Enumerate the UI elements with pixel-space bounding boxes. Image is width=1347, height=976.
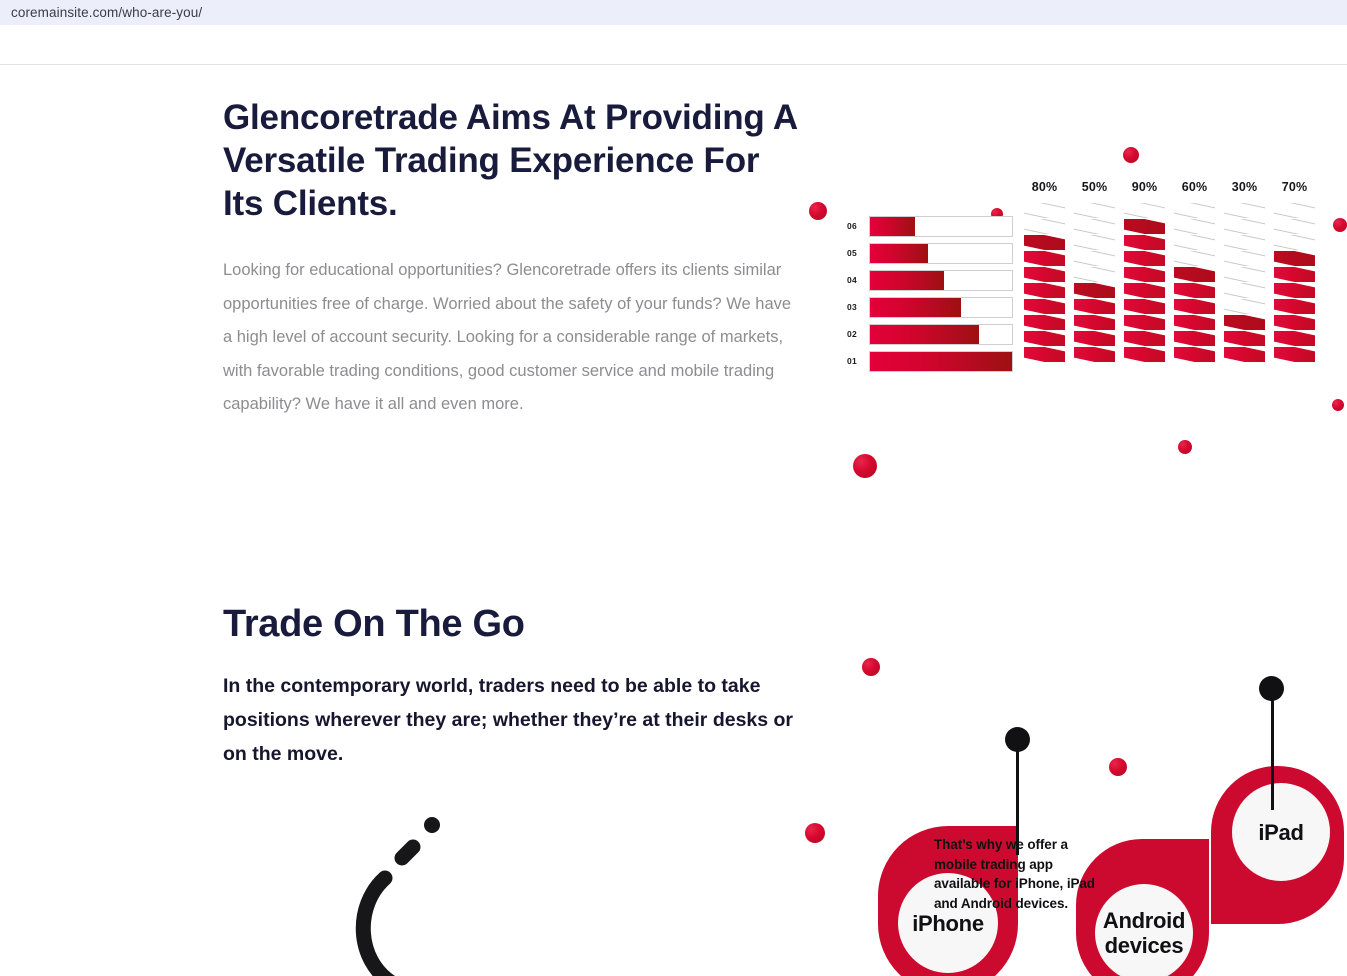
slice-empty: [1024, 203, 1065, 218]
slice-filled: [1174, 331, 1215, 346]
slice-filled: [1024, 315, 1065, 330]
slice-empty: [1024, 219, 1065, 234]
slice-shape: [1024, 299, 1065, 314]
slice-empty: [1274, 235, 1315, 250]
intro-paragraph: Looking for educational opportunities? G…: [223, 254, 798, 422]
bar-row: 04: [847, 269, 1013, 291]
url-text[interactable]: coremainsite.com/who-are-you/: [0, 5, 202, 20]
bar-track: [869, 243, 1013, 264]
slice-shape: [1224, 347, 1265, 362]
percentage-label: 30%: [1224, 180, 1265, 194]
slice-shape: [1074, 235, 1115, 250]
decorative-dot: [809, 202, 827, 220]
bar-fill: [870, 298, 961, 317]
slice-filled: [1274, 315, 1315, 330]
slice-filled: [1224, 331, 1265, 346]
bar-row: 02: [847, 323, 1013, 345]
slice-shape: [1124, 331, 1165, 346]
slice-shape: [1224, 251, 1265, 266]
slice-empty: [1224, 219, 1265, 234]
slice-filled: [1124, 219, 1165, 234]
bar-track: [869, 270, 1013, 291]
slice-shape: [1174, 219, 1215, 234]
section-title: Trade On The Go: [223, 601, 803, 647]
percentage-label: 60%: [1174, 180, 1215, 194]
slice-filled: [1024, 267, 1065, 282]
slice-shape: [1224, 299, 1265, 314]
slice-filled: [1174, 283, 1215, 298]
bar-track: [869, 297, 1013, 318]
slice-shape: [1124, 219, 1165, 234]
bar-fill: [870, 352, 1012, 371]
bar-row: 06: [847, 215, 1013, 237]
slice-shape: [1074, 267, 1115, 282]
slice-empty: [1074, 251, 1115, 266]
slice-filled: [1124, 235, 1165, 250]
slice-shape: [1274, 315, 1315, 330]
percentage-stack: [1024, 203, 1065, 362]
percentage-column: 30%: [1224, 180, 1265, 362]
slice-filled: [1074, 315, 1115, 330]
slice-shape: [1024, 315, 1065, 330]
slice-shape: [1024, 251, 1065, 266]
slice-filled: [1174, 315, 1215, 330]
page-content: Glencoretrade Aims At Providing A Versat…: [0, 66, 1347, 976]
pin-stem: [1271, 693, 1274, 810]
slice-filled: [1224, 315, 1265, 330]
decorative-dot: [1109, 758, 1127, 776]
slice-filled: [1124, 347, 1165, 362]
section-trade-on-the-go: Trade On The Go In the contemporary worl…: [223, 601, 803, 771]
decorative-dot: [1178, 440, 1192, 454]
slice-shape: [1074, 283, 1115, 298]
slice-empty: [1274, 219, 1315, 234]
slice-empty: [1174, 235, 1215, 250]
slice-shape: [1074, 315, 1115, 330]
slice-filled: [1124, 251, 1165, 266]
decorative-dot: [1332, 399, 1344, 411]
decorative-dot: [862, 658, 880, 676]
slice-shape: [1124, 299, 1165, 314]
percentage-column: 80%: [1024, 180, 1065, 362]
decorative-dot: [1123, 147, 1139, 163]
dashed-arc-icon: [340, 778, 460, 976]
slice-shape: [1124, 251, 1165, 266]
slice-shape: [1224, 219, 1265, 234]
percentage-label: 90%: [1124, 180, 1165, 194]
slice-filled: [1224, 347, 1265, 362]
decorative-dot: [1333, 218, 1347, 232]
bar-track: [869, 324, 1013, 345]
slice-filled: [1174, 347, 1215, 362]
slice-shape: [1024, 267, 1065, 282]
slice-shape: [1274, 235, 1315, 250]
device-label: iPad: [1258, 820, 1303, 845]
slice-shape: [1024, 235, 1065, 250]
pin-circle: iPad: [1232, 783, 1330, 881]
slice-filled: [1274, 347, 1315, 362]
callout-text: That’s why we offer a mobile trading app…: [934, 835, 1149, 913]
slice-filled: [1074, 347, 1115, 362]
section-paragraph: In the contemporary world, traders need …: [223, 669, 795, 771]
slice-shape: [1174, 283, 1215, 298]
page-title: Glencoretrade Aims At Providing A Versat…: [223, 96, 803, 225]
slice-shape: [1274, 331, 1315, 346]
slice-empty: [1274, 203, 1315, 218]
slice-shape: [1074, 219, 1115, 234]
slice-shape: [1074, 299, 1115, 314]
slice-shape: [1224, 235, 1265, 250]
slice-shape: [1124, 283, 1165, 298]
slice-shape: [1224, 203, 1265, 218]
browser-url-bar[interactable]: coremainsite.com/who-are-you/: [0, 0, 1347, 25]
bar-label: 01: [847, 356, 869, 366]
section-who-are-you: Glencoretrade Aims At Providing A Versat…: [223, 96, 803, 422]
slice-empty: [1224, 203, 1265, 218]
slice-filled: [1074, 299, 1115, 314]
slice-filled: [1124, 267, 1165, 282]
slice-empty: [1174, 251, 1215, 266]
slice-filled: [1274, 299, 1315, 314]
browser-toolbar: [0, 25, 1347, 65]
bar-fill: [870, 244, 928, 263]
bar-label: 02: [847, 329, 869, 339]
percentage-label: 70%: [1274, 180, 1315, 194]
slice-filled: [1024, 283, 1065, 298]
bar-row: 01: [847, 350, 1013, 372]
slice-shape: [1174, 347, 1215, 362]
slice-shape: [1224, 267, 1265, 282]
slice-filled: [1124, 331, 1165, 346]
percentage-label: 80%: [1024, 180, 1065, 194]
slice-shape: [1024, 331, 1065, 346]
slice-filled: [1024, 331, 1065, 346]
decorative-dot: [805, 823, 825, 843]
slice-filled: [1124, 283, 1165, 298]
slice-shape: [1274, 251, 1315, 266]
bar-label: 06: [847, 221, 869, 231]
slice-shape: [1274, 283, 1315, 298]
slice-shape: [1274, 203, 1315, 218]
slice-shape: [1274, 299, 1315, 314]
slice-filled: [1274, 331, 1315, 346]
slice-filled: [1274, 251, 1315, 266]
slice-empty: [1174, 219, 1215, 234]
slice-shape: [1074, 347, 1115, 362]
slice-empty: [1224, 235, 1265, 250]
slice-shape: [1124, 267, 1165, 282]
bar-track: [869, 216, 1013, 237]
slice-filled: [1024, 299, 1065, 314]
device-label: iPhone: [912, 911, 984, 936]
bar-label: 03: [847, 302, 869, 312]
statistics-infographic: 060504030201 80%50%90%60%30%70%: [800, 88, 1347, 458]
slice-shape: [1224, 283, 1265, 298]
percentage-column: 60%: [1174, 180, 1215, 362]
slice-shape: [1174, 331, 1215, 346]
slice-filled: [1274, 283, 1315, 298]
slice-empty: [1224, 283, 1265, 298]
percentage-column: 90%: [1124, 180, 1165, 362]
slice-shape: [1124, 203, 1165, 218]
slice-shape: [1224, 331, 1265, 346]
bar-row: 05: [847, 242, 1013, 264]
slice-filled: [1124, 315, 1165, 330]
slice-shape: [1174, 315, 1215, 330]
slice-empty: [1074, 219, 1115, 234]
percentage-column: 50%: [1074, 180, 1115, 362]
bar-label: 04: [847, 275, 869, 285]
mobile-devices-infographic: iPad Android devices iPhone That’s why w…: [800, 586, 1347, 976]
slice-shape: [1124, 315, 1165, 330]
slice-shape: [1074, 331, 1115, 346]
slice-shape: [1024, 219, 1065, 234]
slice-empty: [1124, 203, 1165, 218]
slice-filled: [1124, 299, 1165, 314]
slice-shape: [1124, 235, 1165, 250]
pin-stem-dot: [1259, 676, 1284, 701]
slice-shape: [1274, 347, 1315, 362]
percentage-stack: [1074, 203, 1115, 362]
bar-fill: [870, 271, 944, 290]
slice-shape: [1074, 251, 1115, 266]
slice-shape: [1024, 283, 1065, 298]
slice-empty: [1174, 203, 1215, 218]
percentage-stack: [1174, 203, 1215, 362]
slice-empty: [1074, 203, 1115, 218]
slice-shape: [1274, 219, 1315, 234]
slice-shape: [1024, 347, 1065, 362]
vertical-percentage-chart: 80%50%90%60%30%70%: [1024, 180, 1315, 362]
slice-shape: [1174, 299, 1215, 314]
slice-shape: [1174, 235, 1215, 250]
slice-filled: [1024, 347, 1065, 362]
slice-filled: [1024, 251, 1065, 266]
bar-row: 03: [847, 296, 1013, 318]
percentage-stack: [1274, 203, 1315, 362]
slice-shape: [1174, 251, 1215, 266]
percentage-column: 70%: [1274, 180, 1315, 362]
slice-shape: [1224, 315, 1265, 330]
bar-fill: [870, 325, 979, 344]
slice-filled: [1074, 331, 1115, 346]
slice-filled: [1274, 267, 1315, 282]
slice-shape: [1074, 203, 1115, 218]
slice-empty: [1224, 299, 1265, 314]
slice-filled: [1174, 267, 1215, 282]
slice-filled: [1024, 235, 1065, 250]
bar-fill: [870, 217, 915, 236]
percentage-label: 50%: [1074, 180, 1115, 194]
slice-empty: [1224, 267, 1265, 282]
slice-shape: [1174, 203, 1215, 218]
slice-shape: [1274, 267, 1315, 282]
slice-empty: [1224, 251, 1265, 266]
slice-shape: [1174, 267, 1215, 282]
slice-shape: [1124, 347, 1165, 362]
percentage-stack: [1224, 203, 1265, 362]
slice-filled: [1074, 283, 1115, 298]
decorative-dot: [853, 454, 877, 478]
percentage-stack: [1124, 203, 1165, 362]
slice-shape: [1024, 203, 1065, 218]
bar-track: [869, 351, 1013, 372]
horizontal-bar-chart: 060504030201: [847, 215, 1013, 372]
bar-label: 05: [847, 248, 869, 258]
slice-empty: [1074, 267, 1115, 282]
slice-filled: [1174, 299, 1215, 314]
device-pin-ipad: iPad: [1211, 766, 1344, 924]
callout-leader-dot: [1005, 727, 1030, 752]
slice-empty: [1074, 235, 1115, 250]
device-label: Android devices: [1095, 908, 1193, 958]
